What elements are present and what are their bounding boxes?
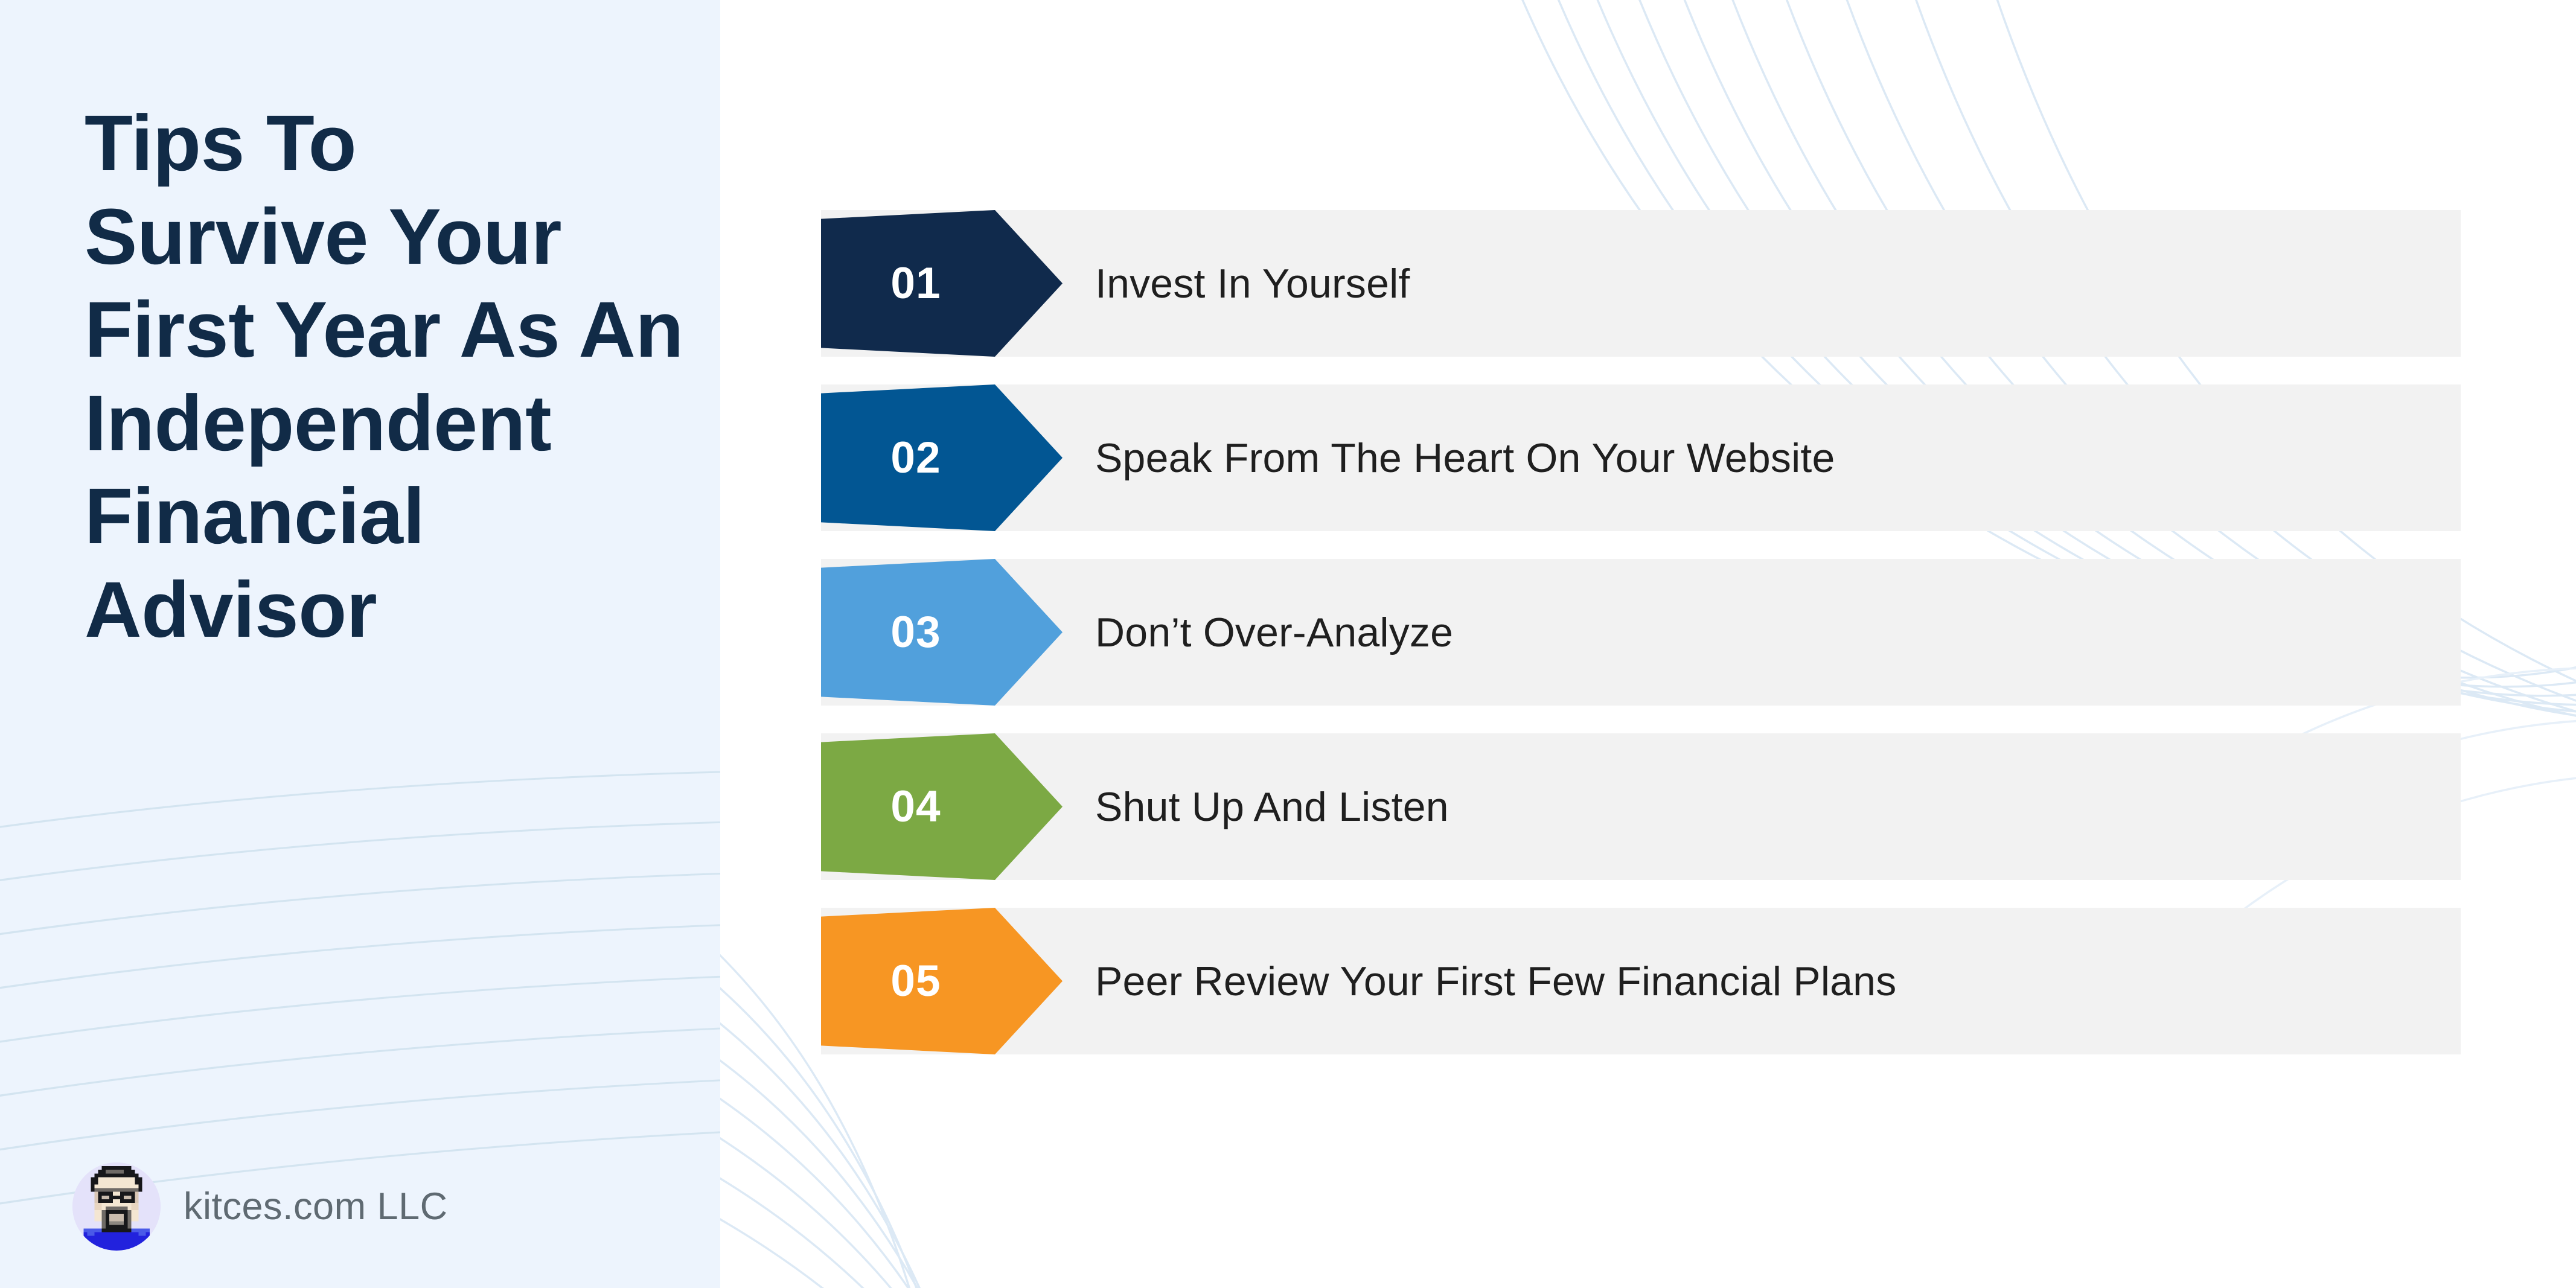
badge-shape-icon bbox=[821, 733, 1063, 880]
pixel-avatar-icon bbox=[72, 1162, 161, 1251]
tip-number: 02 bbox=[890, 433, 941, 483]
tip-badge: 03 bbox=[821, 559, 1063, 706]
tip-label: Shut Up And Listen bbox=[1095, 783, 1449, 831]
row-background bbox=[821, 733, 2461, 880]
tip-number: 03 bbox=[890, 607, 941, 657]
tip-number: 05 bbox=[890, 956, 941, 1006]
page-title: Tips To Survive Your First Year As An In… bbox=[85, 97, 688, 656]
tip-badge: 04 bbox=[821, 733, 1063, 880]
row-background bbox=[821, 559, 2461, 706]
infographic-canvas: Tips To Survive Your First Year As An In… bbox=[0, 0, 2576, 1288]
list-item[interactable]: 02 Speak From The Heart On Your Website bbox=[821, 384, 2461, 531]
tip-label: Peer Review Your First Few Financial Pla… bbox=[1095, 958, 1896, 1005]
left-panel: Tips To Survive Your First Year As An In… bbox=[0, 0, 720, 1288]
tip-number: 01 bbox=[890, 258, 941, 308]
tip-badge: 05 bbox=[821, 908, 1063, 1054]
tip-badge: 02 bbox=[821, 384, 1063, 531]
list-item[interactable]: 01 Invest In Yourself bbox=[821, 210, 2461, 357]
tips-list: 01 Invest In Yourself 02 Speak From The … bbox=[821, 210, 2461, 1054]
tip-label: Speak From The Heart On Your Website bbox=[1095, 435, 1835, 482]
list-item[interactable]: 04 Shut Up And Listen bbox=[821, 733, 2461, 880]
list-item[interactable]: 05 Peer Review Your First Few Financial … bbox=[821, 908, 2461, 1054]
badge-shape-icon bbox=[821, 210, 1063, 357]
tip-badge: 01 bbox=[821, 210, 1063, 357]
badge-shape-icon bbox=[821, 908, 1063, 1054]
tip-label: Don’t Over-Analyze bbox=[1095, 609, 1453, 656]
brand-footer: kitces.com LLC bbox=[72, 1162, 448, 1251]
tip-number: 04 bbox=[890, 782, 941, 832]
list-item[interactable]: 03 Don’t Over-Analyze bbox=[821, 559, 2461, 706]
brand-name: kitces.com LLC bbox=[184, 1185, 448, 1228]
badge-shape-icon bbox=[821, 384, 1063, 531]
row-background bbox=[821, 210, 2461, 357]
tip-label: Invest In Yourself bbox=[1095, 260, 1410, 307]
badge-shape-icon bbox=[821, 559, 1063, 706]
